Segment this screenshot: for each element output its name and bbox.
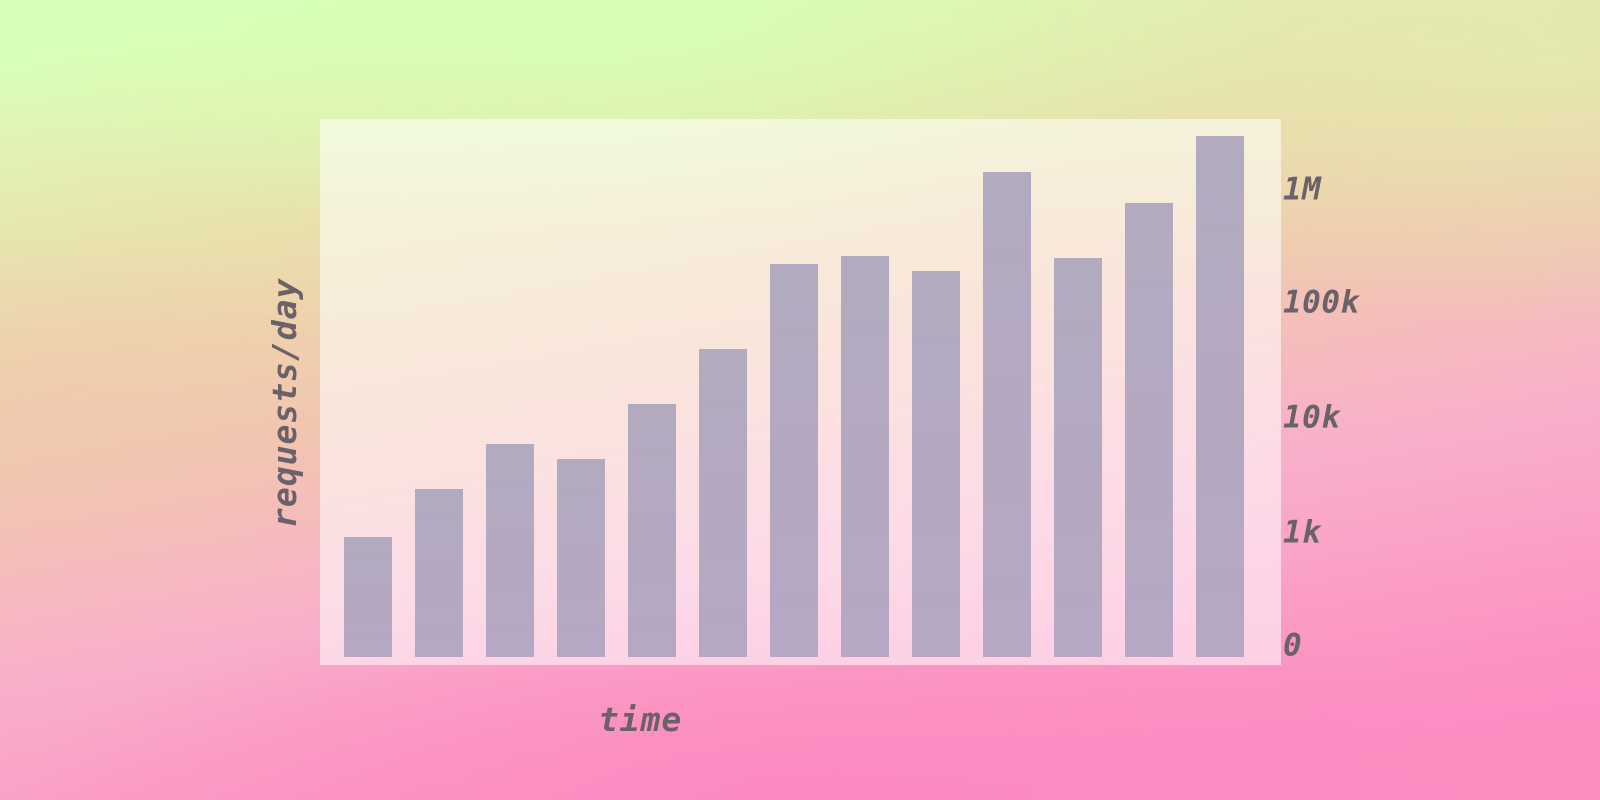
bar [486,444,534,657]
bar [415,489,463,657]
bar [344,537,392,657]
bar [1125,203,1173,657]
bar [557,459,605,657]
bar [912,271,960,657]
bar [841,256,889,657]
bar [983,172,1031,657]
y-axis-tick-label: 0 [1283,631,1302,662]
bar [699,349,747,657]
bar [628,404,676,657]
chart-canvas: requests/day 1M100k10k1k0 time [0,0,1600,800]
bar-series [320,119,1281,665]
x-axis-title: time [0,703,1281,736]
bar [770,264,818,657]
y-axis-tick-label: 100k [1283,288,1360,319]
bar [1054,258,1102,657]
plot-panel [320,119,1281,665]
y-axis-tick-label: 10k [1283,403,1341,434]
bar [1196,136,1244,657]
y-axis-tick-label: 1M [1283,175,1321,206]
y-axis-tick-label: 1k [1283,518,1321,549]
y-axis-title: requests/day [268,278,301,528]
